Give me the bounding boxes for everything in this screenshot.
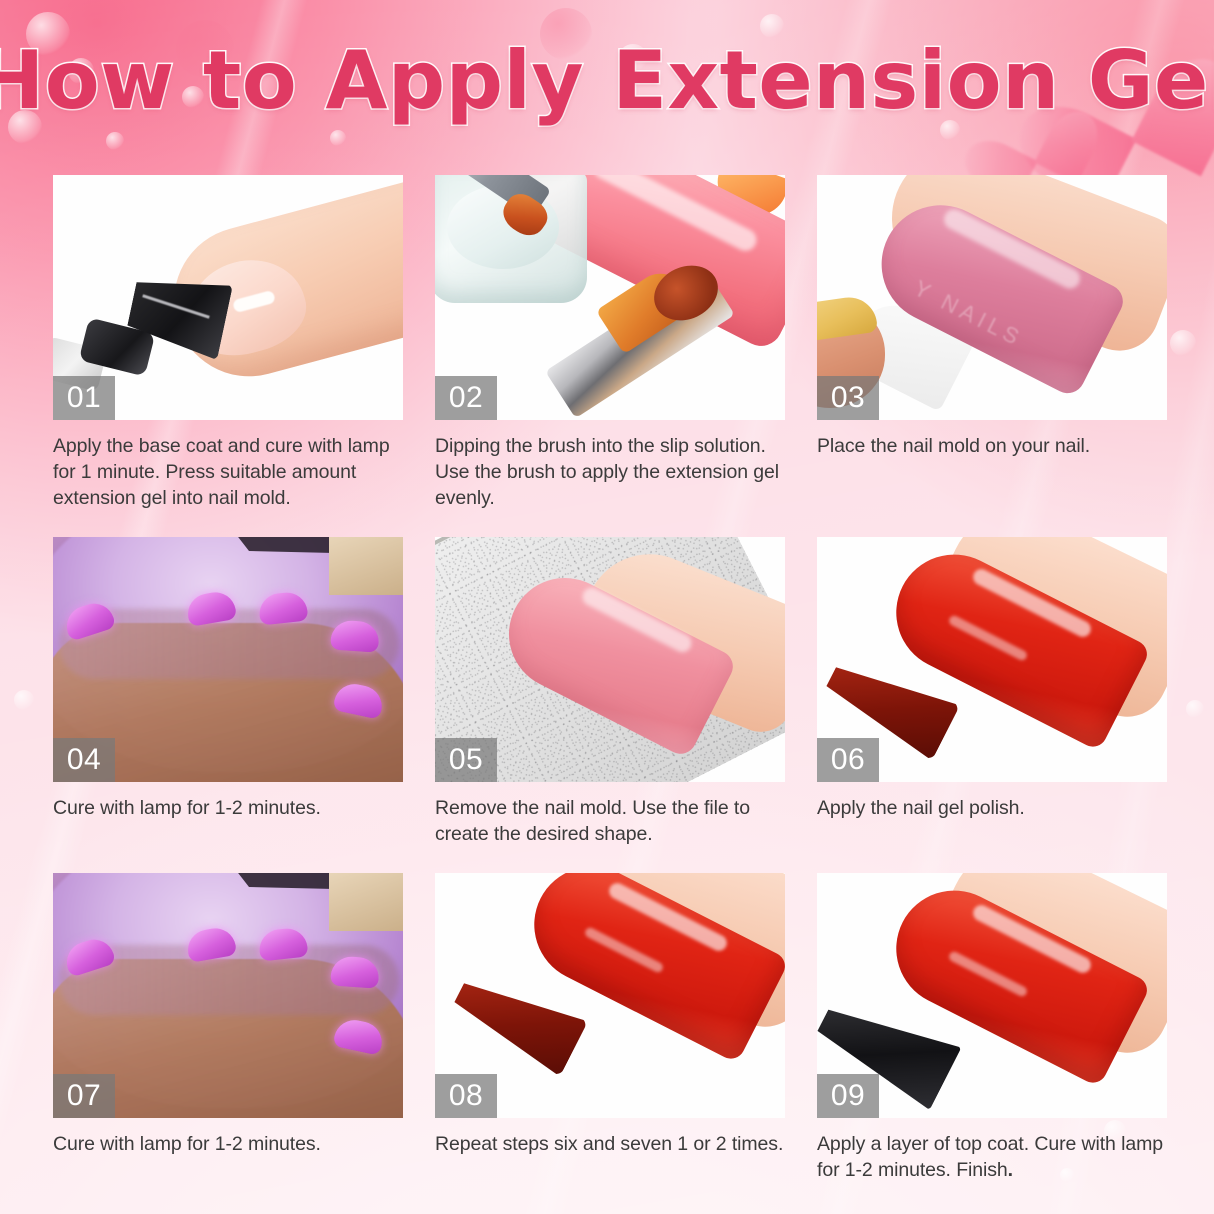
step-number-badge: 07 (53, 1074, 115, 1118)
step-card-02: 02 Dipping the brush into the slip solut… (435, 175, 785, 511)
page-title: How to Apply Extension Gel (0, 34, 1214, 127)
step-photo-07: 07 (53, 873, 403, 1118)
step-photo-09: 09 (817, 873, 1167, 1118)
step-number-badge: 09 (817, 1074, 879, 1118)
step-card-03: Y NAILS 03 Place the nail mold on your n… (817, 175, 1167, 511)
step-photo-03: Y NAILS 03 (817, 175, 1167, 420)
step-number-badge: 05 (435, 738, 497, 782)
step-caption-emphasis: . (1008, 1159, 1013, 1181)
bokeh-dot (14, 690, 34, 710)
step-caption-text: Apply a layer of top coat. Cure with lam… (817, 1133, 1163, 1181)
step-card-09: 09 Apply a layer of top coat. Cure with … (817, 873, 1167, 1183)
step-card-01: 01 Apply the base coat and cure with lam… (53, 175, 403, 511)
step-photo-08: 08 (435, 873, 785, 1118)
header: How to Apply Extension Gel (0, 0, 1214, 160)
steps-grid: 01 Apply the base coat and cure with lam… (53, 175, 1163, 1183)
step-card-05: 05 Remove the nail mold. Use the file to… (435, 537, 785, 847)
step-number-badge: 01 (53, 376, 115, 420)
step-caption: Cure with lamp for 1-2 minutes. (53, 795, 403, 821)
step-photo-06: 06 (817, 537, 1167, 782)
step-number-badge: 06 (817, 738, 879, 782)
step-number-badge: 08 (435, 1074, 497, 1118)
step-photo-02: 02 (435, 175, 785, 420)
uv-lamp-outer-shell (329, 537, 403, 595)
step-card-06: 06 Apply the nail gel polish. (817, 537, 1167, 847)
step-caption: Repeat steps six and seven 1 or 2 times. (435, 1131, 785, 1157)
step-caption: Apply the nail gel polish. (817, 795, 1167, 821)
step-photo-01: 01 (53, 175, 403, 420)
uv-lamp-outer-shell (329, 873, 403, 931)
step-card-08: 08 Repeat steps six and seven 1 or 2 tim… (435, 873, 785, 1183)
step-caption: Dipping the brush into the slip solution… (435, 433, 785, 511)
step-card-07: 07 Cure with lamp for 1-2 minutes. (53, 873, 403, 1183)
step-card-04: 04 Cure with lamp for 1-2 minutes. (53, 537, 403, 847)
bokeh-dot (1170, 330, 1196, 356)
step-photo-05: 05 (435, 537, 785, 782)
step-caption: Apply a layer of top coat. Cure with lam… (817, 1131, 1167, 1183)
step-number-badge: 02 (435, 376, 497, 420)
bokeh-dot (1186, 700, 1204, 718)
step-caption: Place the nail mold on your nail. (817, 433, 1167, 459)
step-caption: Apply the base coat and cure with lamp f… (53, 433, 403, 511)
step-number-badge: 03 (817, 376, 879, 420)
step-caption: Cure with lamp for 1-2 minutes. (53, 1131, 403, 1157)
step-photo-04: 04 (53, 537, 403, 782)
step-number-badge: 04 (53, 738, 115, 782)
step-caption: Remove the nail mold. Use the file to cr… (435, 795, 785, 847)
